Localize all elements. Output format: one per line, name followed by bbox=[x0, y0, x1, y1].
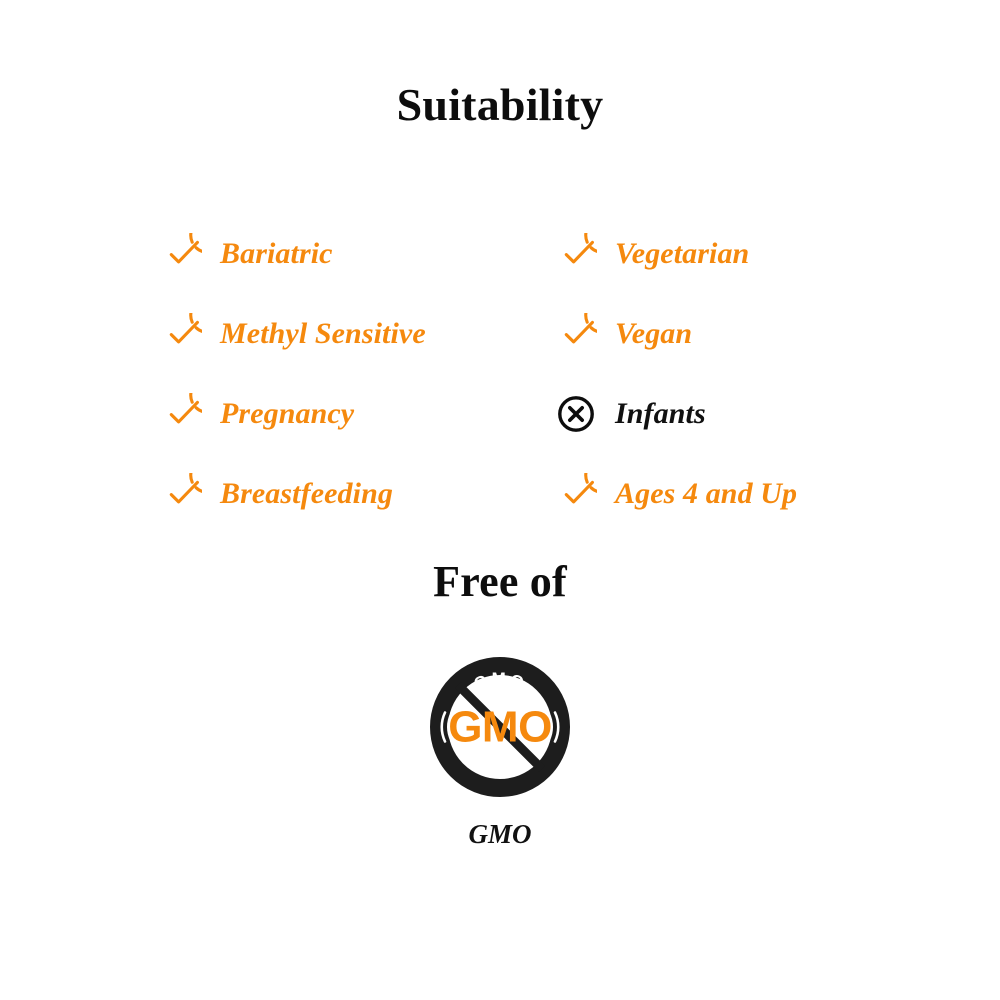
free-of-list: GMO GMO GMO GMO bbox=[0, 657, 1000, 849]
circle-check-icon bbox=[160, 233, 202, 275]
svg-text:GMO: GMO bbox=[471, 669, 529, 694]
suitability-item-pregnancy: Pregnancy bbox=[160, 374, 555, 454]
gmo-center-text: GMO bbox=[448, 703, 552, 752]
circle-check-icon bbox=[160, 473, 202, 515]
suitability-item-bariatric: Bariatric bbox=[160, 214, 555, 294]
circle-check-icon bbox=[160, 313, 202, 355]
suitability-item-label: Methyl Sensitive bbox=[220, 317, 426, 351]
circle-x-icon bbox=[555, 393, 597, 435]
suitability-item-label: Pregnancy bbox=[220, 397, 354, 431]
suitability-item-label: Vegetarian bbox=[615, 237, 749, 271]
suitability-item-label: Vegan bbox=[615, 317, 692, 351]
suitability-panel: Suitability Bariatric Vegetarian Methyl bbox=[0, 0, 1000, 1000]
suitability-item-ages-4-and-up: Ages 4 and Up bbox=[555, 454, 860, 534]
suitability-item-infants: Infants bbox=[555, 374, 860, 454]
free-of-heading: Free of bbox=[0, 556, 1000, 608]
circle-check-icon bbox=[555, 233, 597, 275]
suitability-item-label: Breastfeeding bbox=[220, 477, 393, 511]
gmo-arc-top-text: GMO bbox=[471, 669, 529, 694]
circle-check-icon bbox=[555, 473, 597, 515]
suitability-item-breastfeeding: Breastfeeding bbox=[160, 454, 555, 534]
suitability-list: Bariatric Vegetarian Methyl Sensitive bbox=[160, 214, 860, 534]
suitability-item-label: Infants bbox=[615, 397, 706, 431]
suitability-item-label: Bariatric bbox=[220, 237, 333, 271]
circle-check-icon bbox=[555, 313, 597, 355]
suitability-item-vegan: Vegan bbox=[555, 294, 860, 374]
suitability-item-vegetarian: Vegetarian bbox=[555, 214, 860, 294]
suitability-item-label: Ages 4 and Up bbox=[615, 477, 797, 511]
free-of-item-caption: GMO bbox=[468, 819, 531, 849]
suitability-heading: Suitability bbox=[0, 78, 1000, 132]
no-gmo-badge-icon: GMO GMO GMO bbox=[430, 657, 570, 797]
circle-check-icon bbox=[160, 393, 202, 435]
suitability-item-methyl-sensitive: Methyl Sensitive bbox=[160, 294, 555, 374]
